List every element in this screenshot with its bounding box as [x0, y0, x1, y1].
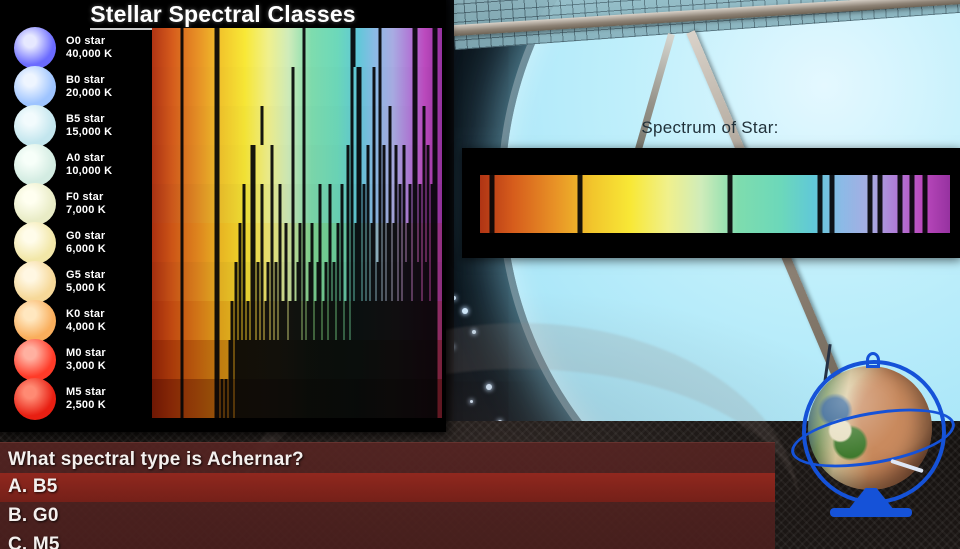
star-color-swatch-icon — [14, 105, 56, 147]
absorption-lines — [152, 223, 442, 262]
chart-row: A0 star10,000 K — [0, 145, 446, 184]
class-spectrum-strip — [152, 28, 442, 67]
star-class-name: M0 star — [66, 347, 144, 360]
quiz-option-list: A. B5B. G0C. M5 — [0, 473, 775, 549]
star-temperature: 40,000 K — [66, 48, 144, 61]
star-temperature: 5,000 K — [66, 282, 144, 295]
star-color-swatch-icon — [14, 222, 56, 264]
quiz-option-key: A. — [8, 476, 27, 497]
class-spectrum-strip — [152, 106, 442, 145]
absorption-lines — [152, 28, 442, 67]
star-class-name: A0 star — [66, 152, 144, 165]
star-class-name: F0 star — [66, 191, 144, 204]
class-spectrum-strip — [152, 223, 442, 262]
quiz-option-text: G0 — [27, 505, 58, 526]
quiz-panel: What spectral type is Achernar? A. B5B. … — [0, 442, 775, 549]
star-temperature: 20,000 K — [66, 87, 144, 100]
chart-row: B0 star20,000 K — [0, 67, 446, 106]
chart-row: K0 star4,000 K — [0, 301, 446, 340]
quiz-option-a[interactable]: A. B5 — [0, 473, 775, 502]
stellar-spectral-classes-chart: Stellar Spectral Classes O0 star40,000 K… — [0, 0, 446, 432]
star-color-swatch-icon — [14, 261, 56, 303]
star-class-label: G0 star6,000 K — [66, 230, 144, 255]
star-class-name: G5 star — [66, 269, 144, 282]
spectrum-readout-panel — [462, 148, 960, 258]
star-class-label: M0 star3,000 K — [66, 347, 144, 372]
quiz-option-b[interactable]: B. G0 — [0, 502, 775, 531]
class-spectrum-strip — [152, 67, 442, 106]
absorption-lines — [152, 106, 442, 145]
absorption-lines — [152, 301, 442, 340]
quiz-option-text: B5 — [27, 476, 57, 497]
star-temperature: 10,000 K — [66, 165, 144, 178]
globe-base-foot — [830, 508, 912, 517]
chart-row: F0 star7,000 K — [0, 184, 446, 223]
star-class-label: A0 star10,000 K — [66, 152, 144, 177]
chart-row: G0 star6,000 K — [0, 223, 446, 262]
star-class-label: F0 star7,000 K — [66, 191, 144, 216]
star-class-label: M5 star2,500 K — [66, 386, 144, 411]
globe-top-pin — [866, 352, 880, 368]
star-temperature: 3,000 K — [66, 360, 144, 373]
class-spectrum-strip — [152, 145, 442, 184]
absorption-lines — [152, 145, 442, 184]
star-class-name: K0 star — [66, 308, 144, 321]
desk-globe[interactable] — [782, 338, 954, 538]
quiz-option-key: C. — [8, 534, 27, 549]
star-color-swatch-icon — [14, 144, 56, 186]
star-temperature: 4,000 K — [66, 321, 144, 334]
quiz-question: What spectral type is Achernar? — [0, 443, 775, 473]
absorption-lines — [480, 175, 950, 233]
chart-title: Stellar Spectral Classes — [0, 1, 446, 28]
star-color-swatch-icon — [14, 300, 56, 342]
star-color-swatch-icon — [14, 27, 56, 69]
class-spectrum-strip — [152, 184, 442, 223]
class-spectrum-strip — [152, 379, 442, 418]
quiz-option-c[interactable]: C. M5 — [0, 531, 775, 549]
absorption-lines — [152, 184, 442, 223]
chart-title-text: Stellar Spectral Classes — [90, 1, 356, 30]
absorption-lines — [152, 379, 442, 418]
screen-root: Stellar Spectral Classes O0 star40,000 K… — [0, 0, 960, 549]
star-color-swatch-icon — [14, 183, 56, 225]
star-class-name: B5 star — [66, 113, 144, 126]
star-color-swatch-icon — [14, 378, 56, 420]
star-class-label: O0 star40,000 K — [66, 35, 144, 60]
spectrum-of-star-label: Spectrum of Star: — [520, 118, 900, 138]
absorption-lines — [152, 67, 442, 106]
star-color-swatch-icon — [14, 66, 56, 108]
chart-row: M0 star3,000 K — [0, 340, 446, 379]
star-class-label: K0 star4,000 K — [66, 308, 144, 333]
absorption-lines — [152, 262, 442, 301]
star-class-name: G0 star — [66, 230, 144, 243]
chart-row: M5 star2,500 K — [0, 379, 446, 418]
quiz-option-text: M5 — [27, 534, 59, 549]
chart-row: B5 star15,000 K — [0, 106, 446, 145]
star-class-label: B0 star20,000 K — [66, 74, 144, 99]
class-spectrum-strip — [152, 340, 442, 379]
star-class-label: B5 star15,000 K — [66, 113, 144, 138]
chart-row-list: O0 star40,000 KB0 star20,000 KB5 star15,… — [0, 28, 446, 418]
star-class-label: G5 star5,000 K — [66, 269, 144, 294]
star-class-name: M5 star — [66, 386, 144, 399]
class-spectrum-strip — [152, 262, 442, 301]
star-temperature: 6,000 K — [66, 243, 144, 256]
star-temperature: 15,000 K — [66, 126, 144, 139]
star-temperature: 2,500 K — [66, 399, 144, 412]
class-spectrum-strip — [152, 301, 442, 340]
star-class-name: B0 star — [66, 74, 144, 87]
star-color-swatch-icon — [14, 339, 56, 381]
absorption-lines — [152, 340, 442, 379]
star-class-name: O0 star — [66, 35, 144, 48]
chart-row: O0 star40,000 K — [0, 28, 446, 67]
spectrum-strip — [480, 175, 950, 233]
quiz-option-key: B. — [8, 505, 27, 526]
star-temperature: 7,000 K — [66, 204, 144, 217]
chart-row: G5 star5,000 K — [0, 262, 446, 301]
